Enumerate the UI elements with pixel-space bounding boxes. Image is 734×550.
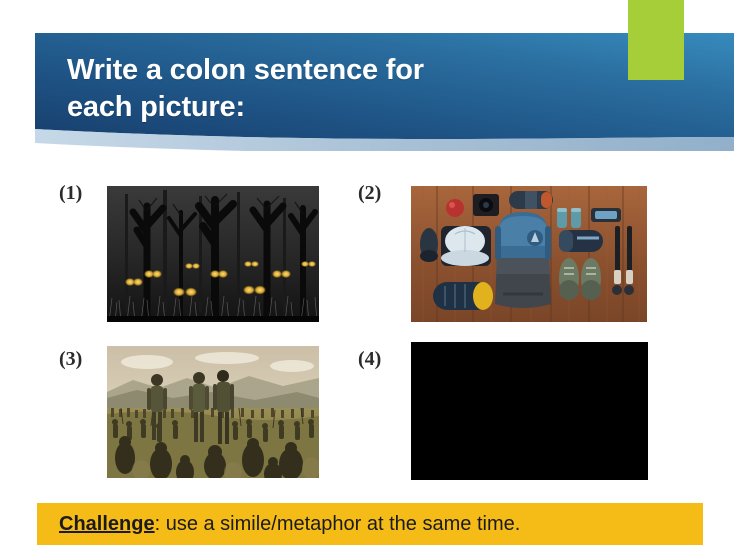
picture-4-blank-black-placeholder[interactable]	[411, 342, 648, 480]
boot-left	[420, 228, 438, 262]
sleeping-mat-roll	[433, 282, 493, 310]
picture-1-dark-forest-eyes[interactable]	[107, 186, 319, 322]
army-scene-illustration	[107, 346, 319, 478]
dark-forest-illustration	[107, 186, 319, 322]
page-title-line-1: Write a colon sentence for	[67, 52, 537, 89]
picture-label-2: (2)	[358, 182, 381, 205]
dry-bag	[559, 230, 603, 252]
challenge-text: Challenge: use a simile/metaphor at the …	[37, 513, 520, 536]
backpack	[495, 212, 551, 308]
camera-lens	[473, 194, 499, 216]
picture-label-4: (4)	[358, 348, 381, 371]
page-title-line-2: each picture:	[67, 89, 537, 126]
challenge-bar: Challenge: use a simile/metaphor at the …	[37, 503, 703, 545]
red-ball	[446, 199, 464, 217]
hiking-gear-illustration	[411, 186, 647, 322]
page-title: Write a colon sentence for each picture:	[67, 52, 537, 126]
challenge-keyword: Challenge	[59, 513, 155, 535]
rolled-jacket	[509, 191, 553, 209]
picture-label-1: (1)	[59, 182, 82, 205]
picture-2-hiking-gear-flatlay[interactable]	[411, 186, 647, 322]
picture-label-3: (3)	[59, 348, 82, 371]
picture-3-army-valley-scene[interactable]	[107, 346, 319, 478]
challenge-rest: : use a simile/metaphor at the same time…	[155, 513, 521, 535]
device-case	[591, 208, 621, 222]
green-accent-tab	[628, 0, 684, 80]
